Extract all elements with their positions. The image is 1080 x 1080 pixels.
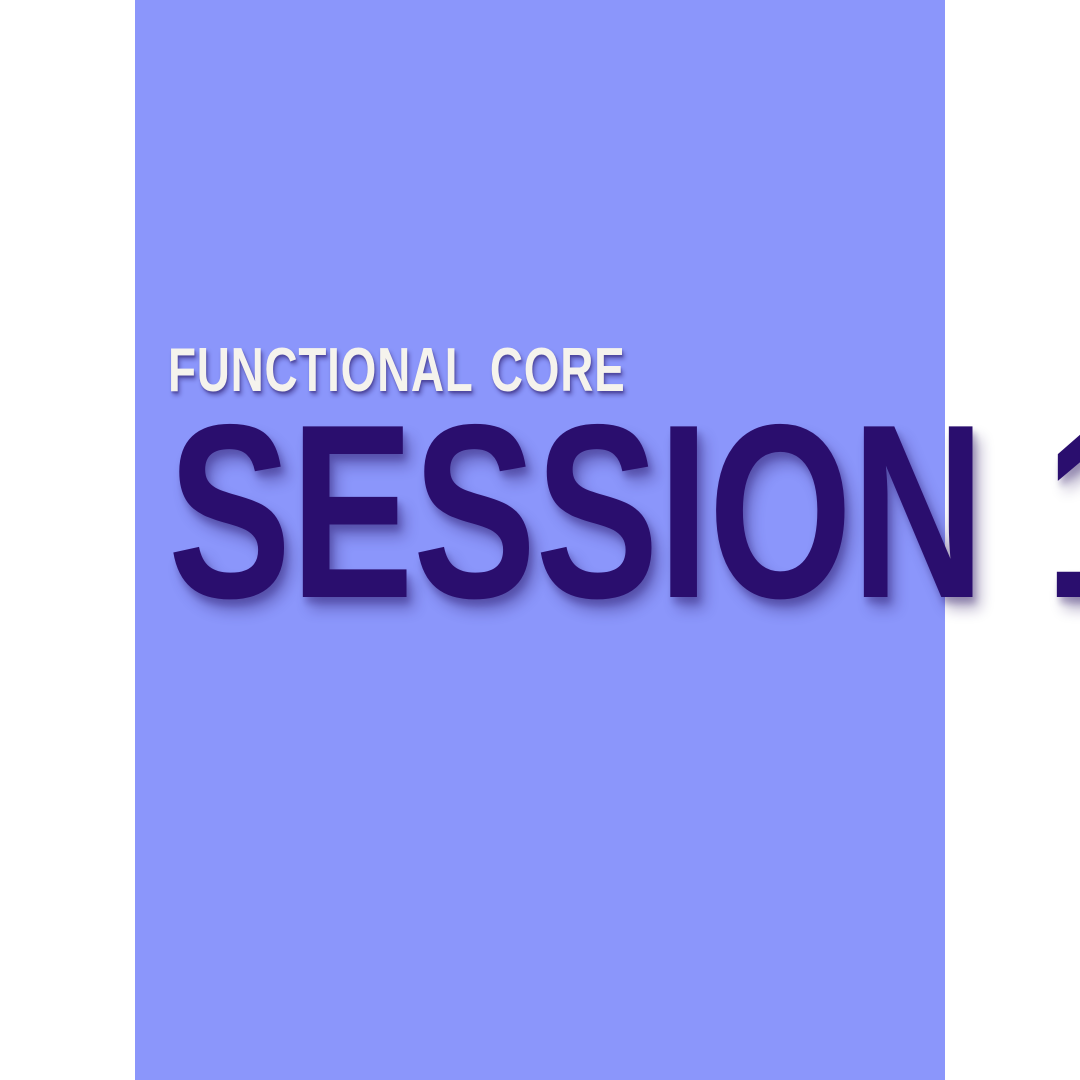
title-block: FUNCTIONAL CORE SESSION 1 bbox=[168, 340, 928, 606]
headline-text: SESSION 1 bbox=[168, 416, 734, 606]
slide-canvas: FUNCTIONAL CORE SESSION 1 bbox=[0, 0, 1080, 1080]
